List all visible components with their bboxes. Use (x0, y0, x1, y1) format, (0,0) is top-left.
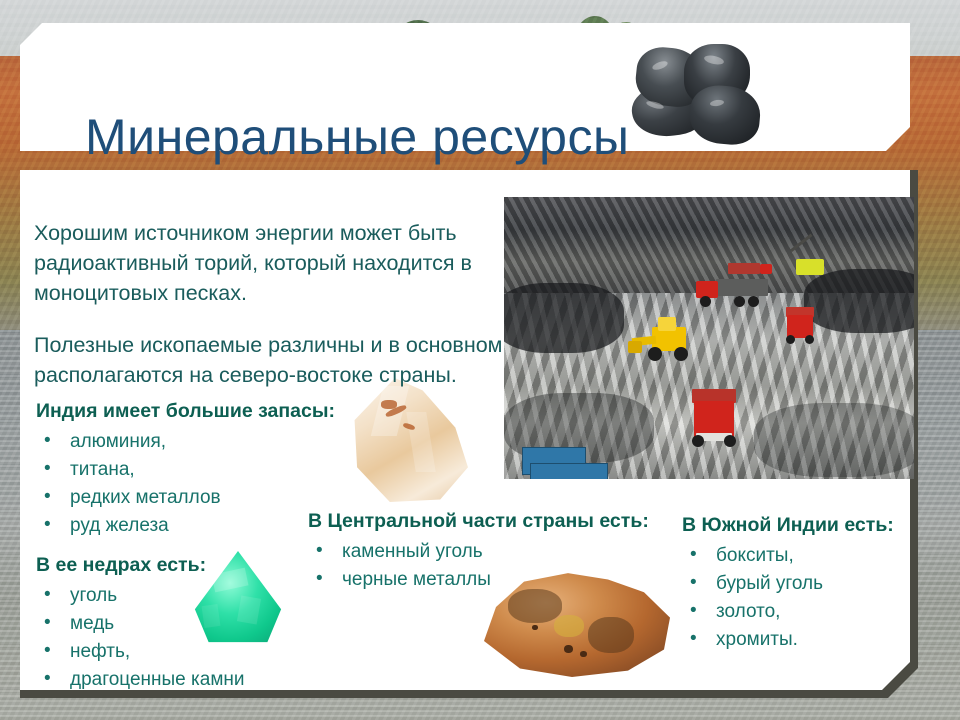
ore-cavity (532, 625, 538, 630)
list-item: хромиты. (682, 626, 894, 654)
slide-title: Минеральные ресурсы (85, 112, 629, 162)
truck-wheel (700, 296, 711, 307)
wheel-loader (630, 323, 698, 363)
list-item: бокситы, (682, 542, 894, 570)
ore-cavity (580, 651, 587, 657)
quartz-crystal-photo (333, 372, 493, 508)
truck-wheel (748, 296, 759, 307)
loader-wheel (674, 347, 688, 361)
excavator (790, 249, 826, 275)
truck-bed (716, 279, 768, 296)
list-heading: Индия имеет большие запасы: (36, 398, 335, 424)
list-bowels: В ее недрах есть: уголь медь нефть, драг… (36, 552, 245, 694)
ore-dark-patch (588, 617, 634, 653)
truck-wheel (786, 335, 795, 344)
list-item: титана, (36, 456, 335, 484)
list-heading: В Центральной части страны есть: (308, 508, 649, 534)
list-item: черные металлы (308, 566, 649, 594)
list-item: каменный уголь (308, 538, 649, 566)
list-item: золото, (682, 598, 894, 626)
list-item: драгоценные камни (36, 666, 245, 694)
list-south-india: В Южной Индии есть: бокситы, бурый уголь… (682, 512, 894, 654)
quartz-inclusion (381, 400, 397, 409)
truck-wheel (724, 435, 736, 447)
truck-wheel (692, 435, 704, 447)
bullet-list: алюминия, титана, редких металлов руд же… (36, 428, 335, 540)
truck-wheel (805, 335, 814, 344)
loader-bucket (628, 341, 642, 353)
list-central-part: В Центральной части страны есть: каменны… (308, 508, 649, 594)
truck-cab (760, 264, 772, 274)
list-item: уголь (36, 582, 245, 610)
list-item: алюминия, (36, 428, 335, 456)
dump-truck (784, 307, 816, 345)
list-india-reserves: Индия имеет большие запасы: алюминия, ти… (36, 398, 335, 540)
loader-cab (658, 317, 676, 331)
list-item: руд железа (36, 512, 335, 540)
bullet-list: уголь медь нефть, драгоценные камни (36, 582, 245, 694)
mine-spoil-heap (804, 269, 914, 333)
list-item: редких металлов (36, 484, 335, 512)
ore-yellow-patch (554, 615, 584, 637)
open-pit-mine-photo (504, 197, 914, 479)
coal-chunk (688, 83, 763, 147)
list-item: нефть, (36, 638, 245, 666)
dump-truck (690, 389, 738, 451)
blue-container (530, 463, 608, 479)
bullet-list: бокситы, бурый уголь золото, хромиты. (682, 542, 894, 654)
presentation-slide: Минеральные ресурсы Хорошим источником э… (0, 0, 960, 720)
coal-chunks-photo (618, 42, 773, 146)
list-item: бурый уголь (682, 570, 894, 598)
ore-cavity (564, 645, 573, 653)
list-item: медь (36, 610, 245, 638)
excavator-body (796, 259, 824, 275)
ore-dark-patch (508, 589, 562, 623)
truck-wheel (734, 296, 745, 307)
mine-spoil-heap (504, 283, 624, 353)
truck-bed (728, 263, 760, 274)
dump-truck (696, 277, 770, 309)
mine-spoil-heap (754, 403, 914, 477)
paragraph-distribution: Полезные ископаемые различны и в основно… (34, 330, 504, 390)
bullet-list: каменный уголь черные металлы (308, 538, 649, 594)
list-heading: В ее недрах есть: (36, 552, 245, 578)
paragraph-thorium: Хорошим источником энергии может быть ра… (34, 218, 504, 308)
loader-wheel (648, 347, 662, 361)
list-heading: В Южной Индии есть: (682, 512, 894, 538)
